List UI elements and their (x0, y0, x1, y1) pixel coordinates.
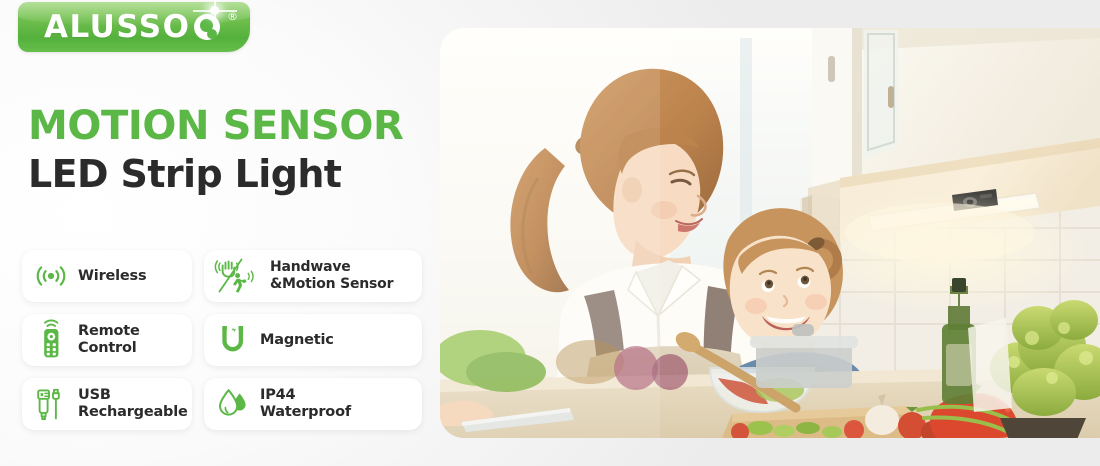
feature-label-line-2: Rechargeable (78, 404, 188, 421)
feature-label-line-1: IP44 (260, 387, 351, 404)
feature-badge-handwave-motion-sensor[interactable]: Handwave &Motion Sensor (204, 250, 422, 302)
feature-row: Wireless (22, 250, 422, 302)
logo-orb-icon (194, 14, 220, 40)
water-drop-icon (214, 385, 252, 423)
usb-cable-icon (32, 385, 70, 423)
feature-label: Wireless (78, 268, 146, 285)
headline-line-1: MOTION SENSOR (28, 103, 438, 149)
feature-label-line-1: Magnetic (260, 332, 334, 348)
feature-badge-magnetic[interactable]: Magnetic (204, 314, 422, 366)
feature-label: USB Rechargeable (78, 387, 188, 421)
wireless-signal-icon (32, 257, 70, 295)
feature-label-line-2: Control (78, 340, 140, 357)
remote-control-icon (32, 321, 70, 359)
feature-label: Magnetic (260, 332, 334, 349)
feature-label-line-1: Handwave (270, 259, 393, 276)
feature-label: Handwave &Motion Sensor (270, 259, 393, 293)
product-banner: ALUSSO ® MOTION SENSOR LED Strip Light (0, 0, 1100, 466)
feature-label: IP44 Waterproof (260, 387, 351, 421)
feature-label-line-1: Remote (78, 323, 140, 340)
feature-label-line-1: USB (78, 387, 188, 404)
logo-registered-icon: ® (227, 10, 238, 23)
feature-row: Remote Control M (22, 314, 422, 366)
logo-wordmark: ALUSSO (44, 7, 190, 47)
feature-label: Remote Control (78, 323, 140, 357)
photo-illustration (440, 28, 1100, 438)
feature-badge-ip44-waterproof[interactable]: IP44 Waterproof (204, 378, 422, 430)
feature-label-line-2: Waterproof (260, 404, 351, 421)
feature-badge-grid: Wireless (22, 250, 422, 442)
handwave-motion-icon (212, 257, 262, 295)
feature-badge-remote-control[interactable]: Remote Control (22, 314, 192, 366)
feature-label-line-1: Wireless (78, 268, 146, 284)
feature-badge-wireless[interactable]: Wireless (22, 250, 192, 302)
logo-sparkle-icon (210, 6, 219, 15)
feature-row: USB Rechargeable IP44 (22, 378, 422, 430)
kitchen-mother-and-daughter-photo (440, 28, 1100, 438)
magnet-icon (214, 321, 252, 359)
headline-block: MOTION SENSOR LED Strip Light (28, 103, 438, 199)
feature-badge-usb-rechargeable[interactable]: USB Rechargeable (22, 378, 192, 430)
headline-line-2: LED Strip Light (28, 149, 438, 199)
feature-label-line-2: &Motion Sensor (270, 276, 393, 293)
brand-logo: ALUSSO ® (18, 2, 250, 52)
